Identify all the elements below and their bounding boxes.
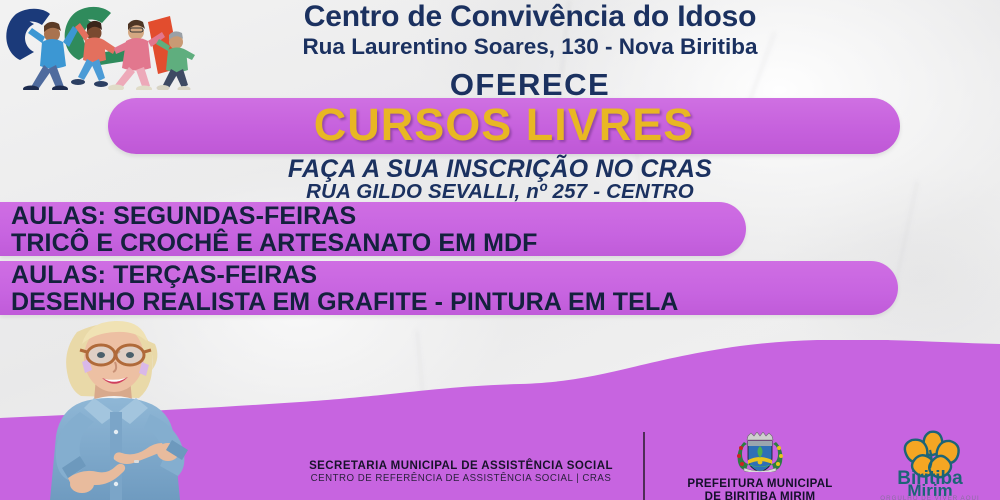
course-day-label: AULAS: SEGUNDAS-FEIRAS	[0, 202, 746, 230]
poster-canvas: Centro de Convivência do Idoso Rua Laure…	[0, 0, 1000, 500]
course-pill-monday: AULAS: SEGUNDAS-FEIRAS TRICÔ E CROCHÊ E …	[0, 202, 746, 256]
organization-address: Rua Laurentino Soares, 130 - Nova Biriti…	[200, 34, 860, 60]
brand-tagline: ORGULHO DE VIVER AQUI	[880, 495, 979, 500]
prefecture-block: PREFEITURA MUNICIPAL DE BIRITIBA MIRIM	[660, 432, 860, 500]
header-block: Centro de Convivência do Idoso Rua Laure…	[200, 2, 860, 103]
course-subjects: TRICÔ E CROCHÊ E ARTESANATO EM MDF	[0, 230, 746, 257]
secretariat-subtitle: CENTRO DE REFERÊNCIA DE ASSISTÊNCIA SOCI…	[296, 473, 626, 484]
headline-text: CURSOS LIVRES	[108, 98, 900, 154]
cci-logo-icon	[4, 2, 200, 90]
coat-of-arms-icon	[728, 432, 792, 472]
organization-name: Centro de Convivência do Idoso	[200, 2, 860, 32]
course-day-label: AULAS: TERÇAS-FEIRAS	[0, 261, 898, 289]
headline-pill: CURSOS LIVRES	[108, 98, 900, 154]
registration-address: RUA GILDO SEVALLI, nº 257 - CENTRO	[0, 180, 1000, 204]
prefecture-caption: PREFEITURA MUNICIPAL DE BIRITIBA MIRIM	[660, 478, 860, 500]
secretariat-block: SECRETARIA MUNICIPAL DE ASSISTÊNCIA SOCI…	[296, 460, 626, 484]
prefecture-line-2: DE BIRITIBA MIRIM	[660, 491, 860, 500]
footer-divider	[643, 432, 645, 500]
biritiba-mirim-brand-logo: Biritiba Mirim ORGULHO DE VIVER AQUI	[868, 428, 992, 500]
prefecture-line-1: PREFEITURA MUNICIPAL	[660, 478, 860, 491]
secretariat-title: SECRETARIA MUNICIPAL DE ASSISTÊNCIA SOCI…	[296, 460, 626, 472]
